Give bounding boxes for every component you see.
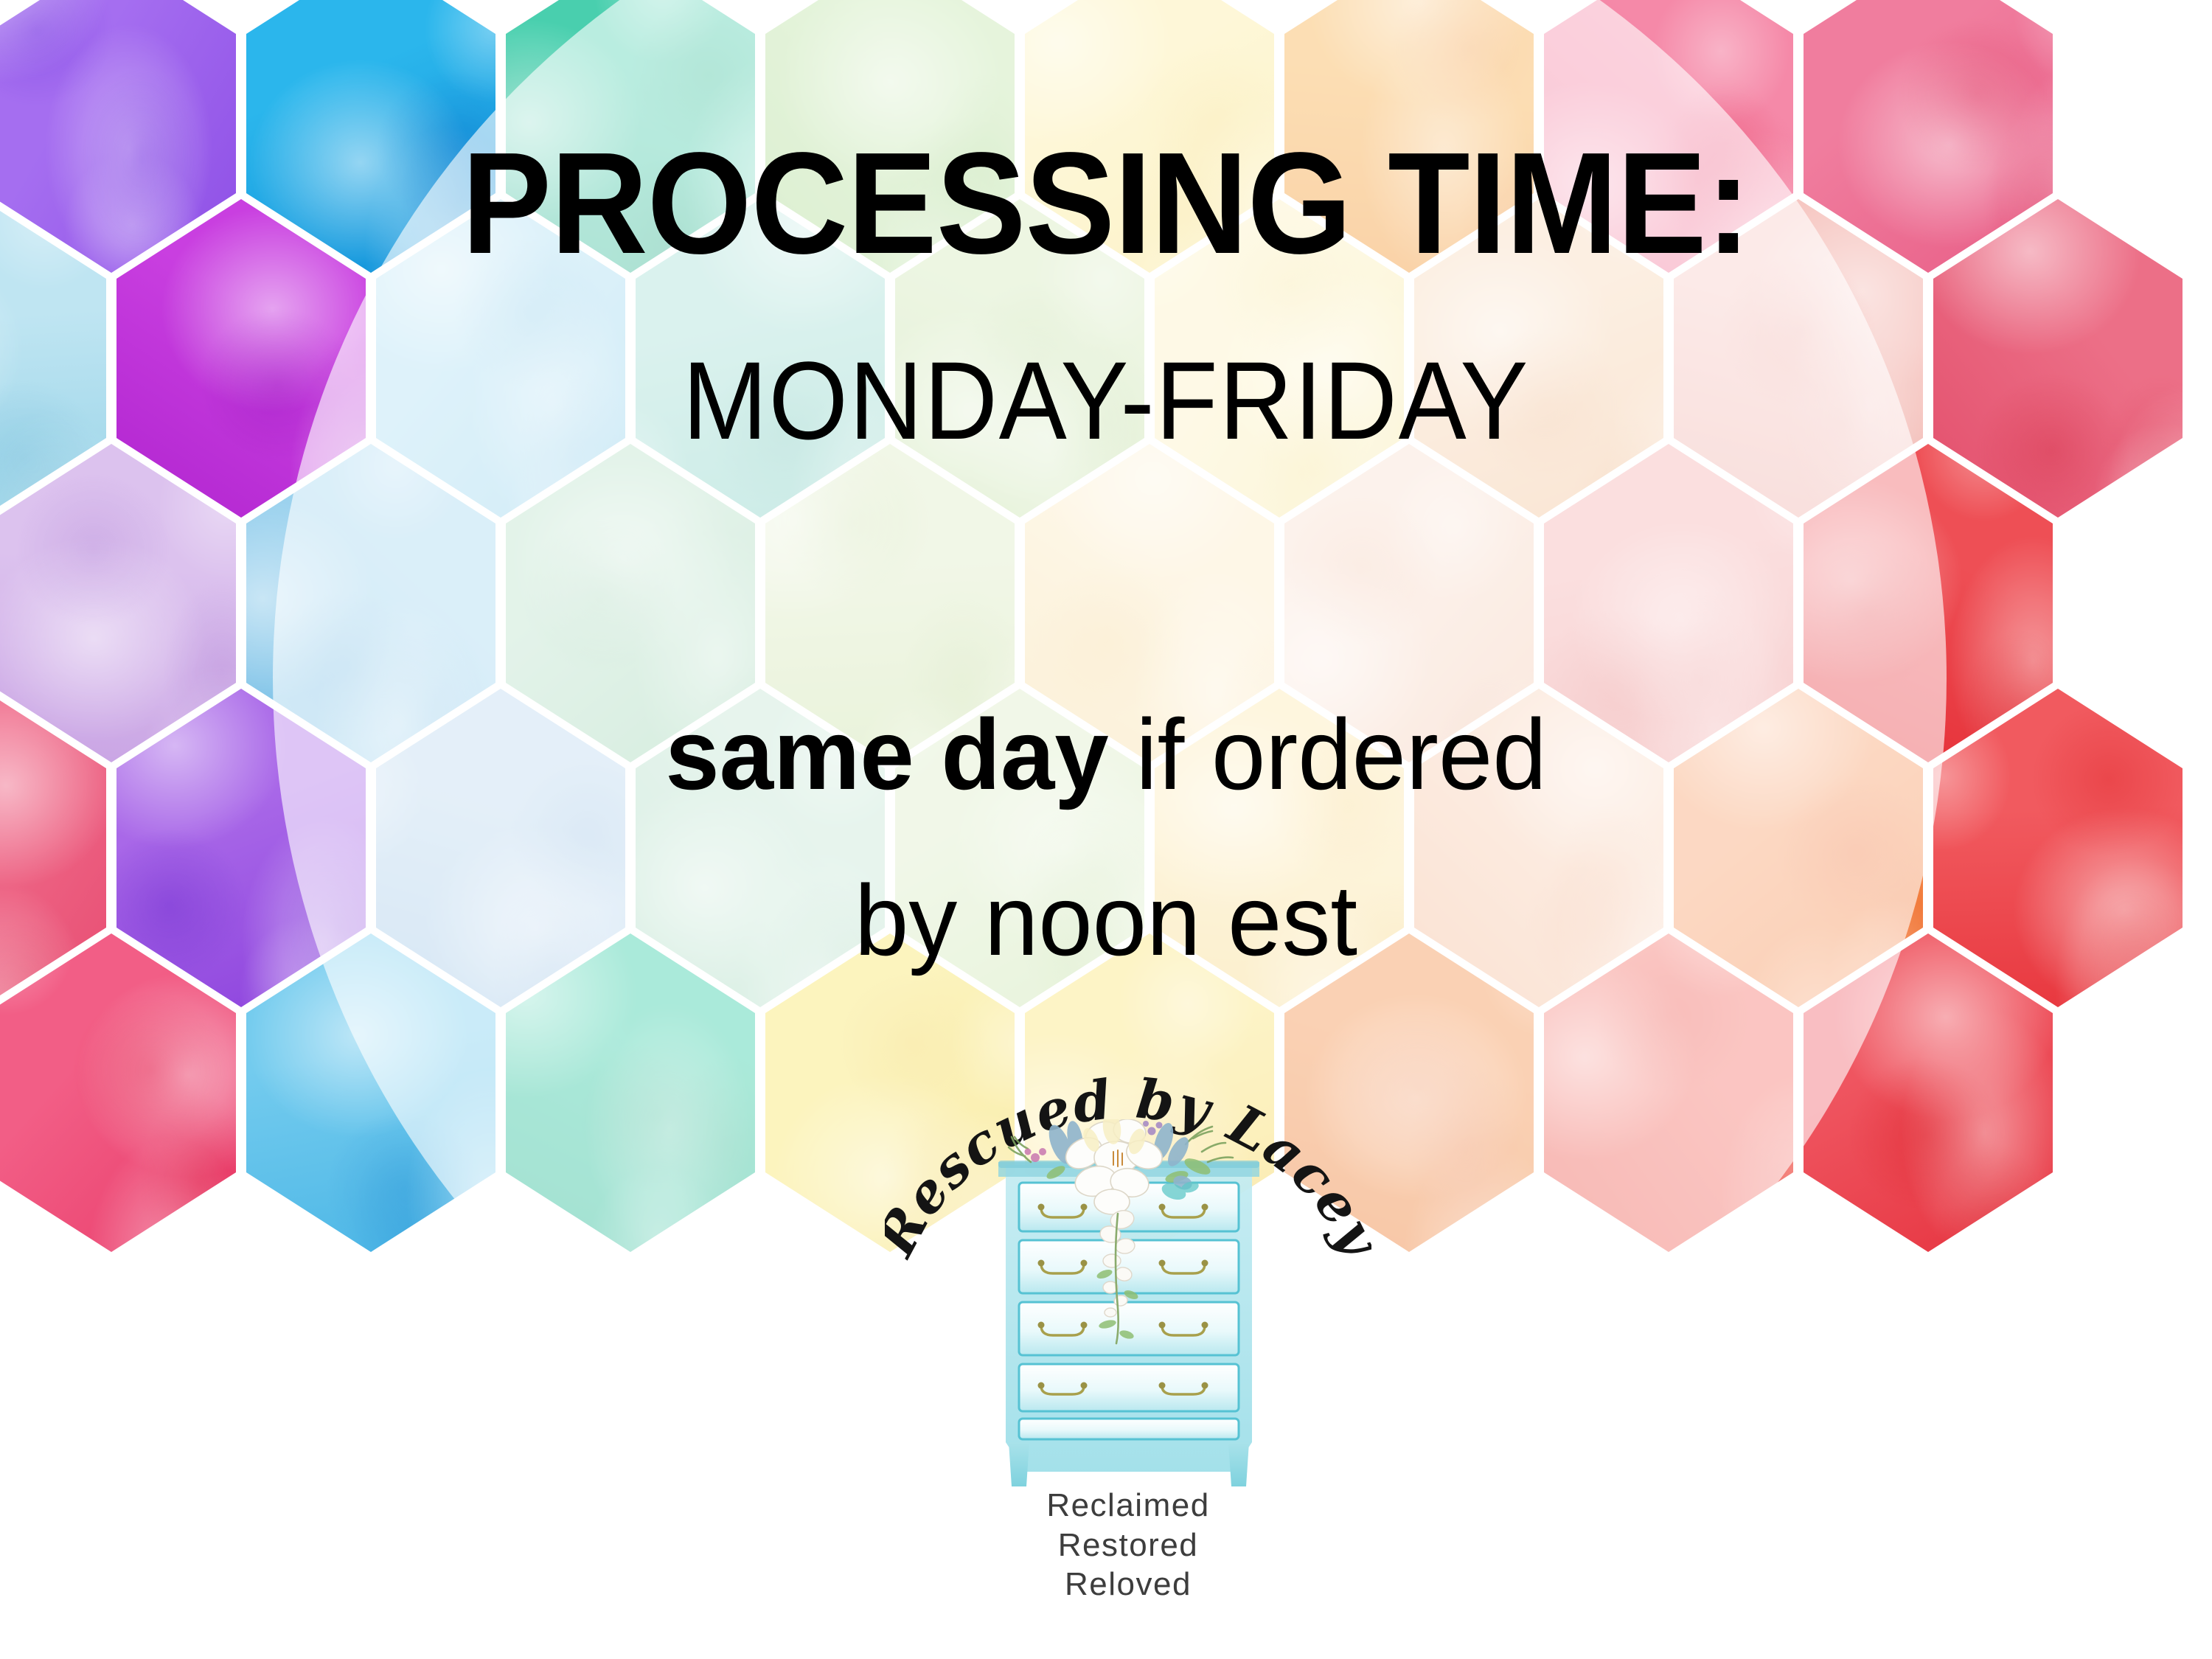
body-line-1-bold: same day — [665, 698, 1108, 810]
brand-tagline: Reclaimed Restored Reloved — [885, 1486, 1371, 1604]
brand-logo: Rescued by Lacey — [885, 1032, 1371, 1630]
poster-canvas: PROCESSING TIME: MONDAY-FRIDAY same day … — [0, 0, 2212, 1659]
tagline-line-3: Reloved — [885, 1565, 1371, 1604]
tagline-line-1: Reclaimed — [885, 1486, 1371, 1526]
body-line-1-rest: if ordered — [1109, 698, 1547, 810]
tagline-line-2: Restored — [885, 1526, 1371, 1565]
subtitle: MONDAY-FRIDAY — [88, 345, 2124, 456]
body-line-1: same day if ordered — [33, 704, 2179, 804]
dresser-illustration-icon — [992, 1119, 1265, 1488]
body-line-2: by noon est — [33, 870, 2179, 970]
poster-content: PROCESSING TIME: MONDAY-FRIDAY same day … — [0, 0, 2212, 1659]
page-title: PROCESSING TIME: — [77, 131, 2135, 276]
